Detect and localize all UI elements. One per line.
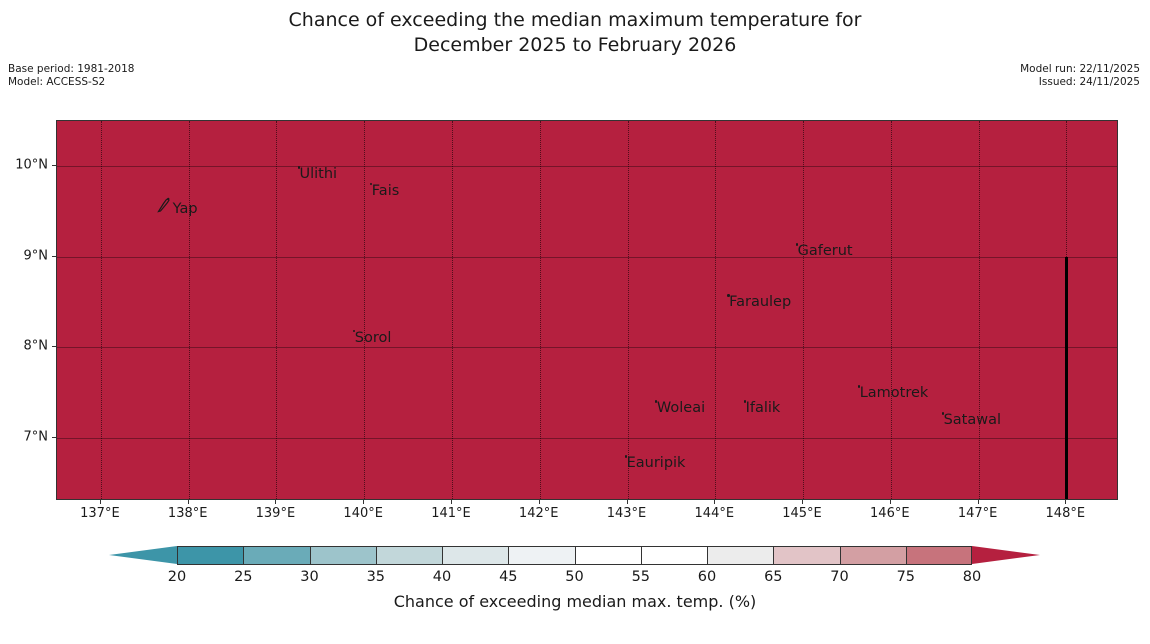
x-axis-tick-label: 146°E	[870, 506, 910, 521]
colorbar-tick-label: 40	[433, 569, 451, 585]
colorbar-tick-label: 35	[367, 569, 385, 585]
colorbar-tick-label: 30	[300, 569, 318, 585]
colorbar-segment	[773, 546, 839, 565]
colorbar-tick-label: 55	[632, 569, 650, 585]
x-tick-mark	[627, 500, 628, 504]
issued-text: Issued: 24/11/2025	[1020, 76, 1140, 89]
map-plot-area: UlithiFaisYapGaferutFaraulepSorolWoleaiI…	[56, 120, 1118, 500]
colorbar-axis-label: Chance of exceeding median max. temp. (%…	[0, 592, 1150, 611]
colorbar-segment	[707, 546, 773, 565]
y-tick-mark	[52, 346, 56, 347]
grid-line-vertical	[364, 121, 365, 499]
colorbar-tick-label: 45	[499, 569, 517, 585]
colorbar-segment	[906, 546, 972, 565]
grid-line-vertical	[276, 121, 277, 499]
place-label: Gaferut	[798, 243, 853, 259]
grid-line-vertical	[891, 121, 892, 499]
colorbar-tick-label: 60	[698, 569, 716, 585]
metadata-right: Model run: 22/11/2025 Issued: 24/11/2025	[1020, 63, 1140, 89]
grid-line-horizontal	[57, 347, 1117, 348]
colorbar-tick-label: 65	[764, 569, 782, 585]
place-label: Ifalik	[746, 400, 781, 416]
colorbar-segment	[575, 546, 641, 565]
grid-line-horizontal	[57, 257, 1117, 258]
grid-line-vertical	[803, 121, 804, 499]
grid-line-horizontal	[57, 166, 1117, 167]
colorbar-segment	[641, 546, 707, 565]
metadata-left: Base period: 1981-2018 Model: ACCESS-S2	[8, 63, 134, 89]
x-axis-tick-label: 137°E	[80, 506, 120, 521]
grid-line-vertical	[452, 121, 453, 499]
x-tick-mark	[978, 500, 979, 504]
colorbar-tick-label: 50	[565, 569, 583, 585]
y-axis-tick-label: 8°N	[24, 339, 49, 354]
colorbar-tick-label: 70	[830, 569, 848, 585]
place-label: Ulithi	[300, 166, 338, 182]
place-label: Woleai	[657, 400, 705, 416]
forecast-map-figure: Chance of exceeding the median maximum t…	[0, 0, 1150, 644]
x-tick-mark	[890, 500, 891, 504]
x-tick-mark	[1065, 500, 1066, 504]
colorbar-tick-label: 25	[234, 569, 252, 585]
y-tick-mark	[52, 437, 56, 438]
grid-line-vertical	[979, 121, 980, 499]
colorbar-segment	[310, 546, 376, 565]
colorbar-segment	[840, 546, 906, 565]
place-label: Faraulep	[729, 294, 791, 310]
place-label: Sorol	[355, 330, 392, 346]
eez-boundary-line	[1065, 257, 1068, 500]
y-axis-tick-label: 10°N	[15, 158, 48, 173]
x-axis-tick-label: 147°E	[958, 506, 998, 521]
x-axis-tick-label: 139°E	[256, 506, 296, 521]
place-label: Yap	[173, 201, 198, 217]
y-tick-mark	[52, 165, 56, 166]
x-tick-mark	[539, 500, 540, 504]
grid-line-horizontal	[57, 438, 1117, 439]
x-tick-mark	[714, 500, 715, 504]
x-axis-tick-label: 143°E	[607, 506, 647, 521]
y-axis-tick-label: 9°N	[24, 248, 49, 263]
x-axis-tick-label: 142°E	[519, 506, 559, 521]
grid-line-vertical	[540, 121, 541, 499]
model-run-text: Model run: 22/11/2025	[1020, 63, 1140, 76]
x-axis-tick-label: 148°E	[1046, 506, 1086, 521]
colorbar-segment	[442, 546, 508, 565]
colorbar-segment	[376, 546, 442, 565]
x-tick-mark	[802, 500, 803, 504]
y-tick-mark	[52, 256, 56, 257]
colorbar	[0, 543, 1150, 569]
x-tick-mark	[100, 500, 101, 504]
y-axis-tick-label: 7°N	[24, 429, 49, 444]
grid-line-vertical	[189, 121, 190, 499]
colorbar-tick-label: 80	[963, 569, 981, 585]
colorbar-segment	[508, 546, 574, 565]
colorbar-segment	[177, 546, 243, 565]
x-axis-tick-label: 140°E	[343, 506, 383, 521]
place-label: Satawal	[944, 412, 1001, 428]
grid-line-vertical	[628, 121, 629, 499]
x-axis-tick-label: 141°E	[431, 506, 471, 521]
colorbar-tick-label: 20	[168, 569, 186, 585]
page-title: Chance of exceeding the median maximum t…	[0, 8, 1150, 58]
grid-line-vertical	[715, 121, 716, 499]
colorbar-high-extend-arrow	[972, 546, 1040, 564]
grid-line-vertical	[101, 121, 102, 499]
place-label: Lamotrek	[860, 385, 929, 401]
colorbar-segment	[243, 546, 309, 565]
model-text: Model: ACCESS-S2	[8, 76, 134, 89]
x-tick-mark	[451, 500, 452, 504]
colorbar-tick-label: 75	[897, 569, 915, 585]
x-axis-tick-label: 138°E	[168, 506, 208, 521]
colorbar-segments	[177, 546, 972, 565]
x-tick-mark	[188, 500, 189, 504]
place-label: Eauripik	[627, 455, 686, 471]
x-axis-tick-label: 145°E	[782, 506, 822, 521]
x-axis-tick-label: 144°E	[695, 506, 735, 521]
x-tick-mark	[363, 500, 364, 504]
colorbar-low-extend-arrow	[109, 546, 177, 564]
yap-island-shape	[155, 197, 175, 215]
x-tick-mark	[275, 500, 276, 504]
base-period-text: Base period: 1981-2018	[8, 63, 134, 76]
place-label: Fais	[372, 183, 399, 199]
